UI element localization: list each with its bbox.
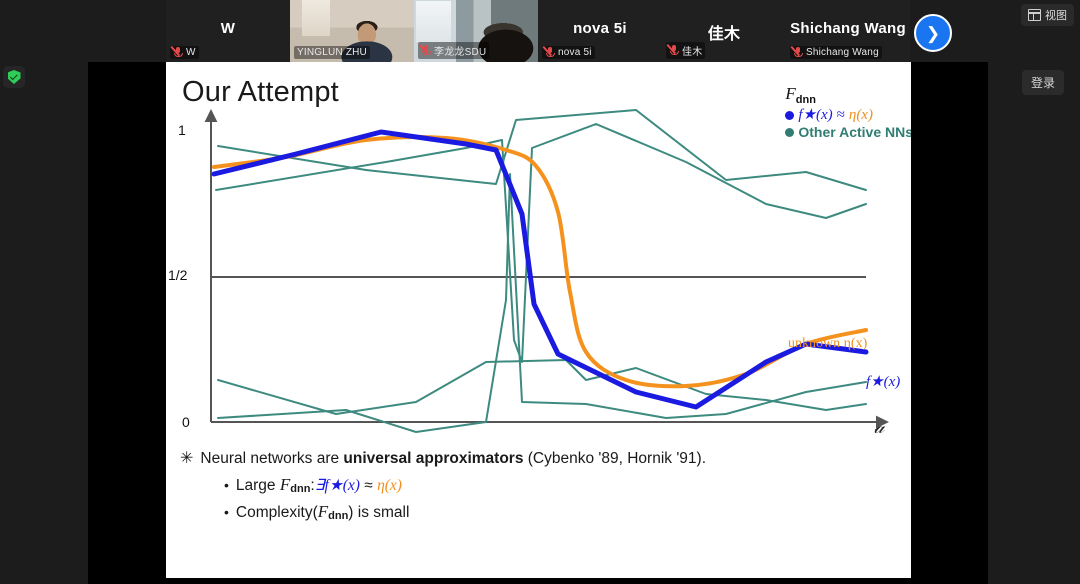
bullet-2-orange: η(x) [377,477,402,494]
login-button[interactable]: 登录 [1022,70,1064,95]
bullet-3-F: F [318,502,328,521]
bullet-3-part-b: ) is small [348,504,409,521]
participant-badge-0: W [170,46,199,59]
shared-screen-area: Our Attempt Fdnn f★(x) ≈ η(x) Other Acti… [88,62,988,584]
participant-badge-label-3: nova 5i [558,47,592,58]
mic-muted-icon [669,45,678,56]
login-label: 登录 [1031,76,1055,90]
star-icon: ✳ [180,448,193,468]
bullet-1-text: Neural networks are universal approximat… [200,450,706,468]
mic-muted-icon [793,47,802,58]
mic-muted-icon [421,45,430,56]
view-mode-label: 视图 [1045,7,1067,23]
view-mode-button[interactable]: 视图 [1021,4,1074,26]
participant-name-5: Shichang Wang [786,20,910,37]
series-line-3 [216,124,866,362]
participant-badge-1: YINGLUN ZHU [294,46,370,59]
bullet-1-part-a: Neural networks are [200,450,343,467]
zoom-meeting-window: WWYINGLUN ZHU李龙龙SDUnova 5inova 5i佳木佳木Shi… [0,0,1080,584]
participant-badge-4: 佳木 [666,42,705,59]
participant-tile-5[interactable]: Shichang WangShichang Wang [786,0,910,62]
participant-badge-label-2: 李龙龙SDU [434,43,486,58]
series-line-4 [218,360,866,414]
bullet-2-approx: ≈ [364,477,373,494]
bullet-1-part-b: (Cybenko '89, Hornik '91). [523,450,706,467]
participant-tile-2[interactable]: 李龙龙SDU [414,0,538,62]
bullet-line-1: ✳ Neural networks are universal approxim… [180,448,900,468]
bullet-dot-icon-1: • [224,478,229,492]
bullet-2-blue: ∃f★(x) [315,477,360,494]
grid-icon [1028,9,1041,21]
participant-name-0: W [166,20,290,37]
participant-name-4: 佳木 [662,20,786,44]
bullet-3-text: Complexity(Fdnn) is small [236,502,410,522]
bullet-3-sub: dnn [328,510,348,522]
participant-badge-label-0: W [186,47,196,58]
participant-badge-2: 李龙龙SDU [418,42,489,59]
y-tick-half: 1/2 [168,267,187,283]
participant-name-3: nova 5i [538,20,662,37]
filmstrip-next-button[interactable]: ❯ [914,14,952,52]
annotation-unknown-eta: unknown η(x) [788,336,867,352]
participant-badge-label-1: YINGLUN ZHU [297,47,367,58]
participant-badge-5: Shichang Wang [790,46,882,59]
bullet-2-sub: dnn [290,483,310,495]
presentation-slide: Our Attempt Fdnn f★(x) ≈ η(x) Other Acti… [166,62,911,578]
encryption-status-badge[interactable] [3,66,25,88]
participant-tile-0[interactable]: WW [166,0,290,62]
participant-badge-3: nova 5i [542,46,595,59]
series-line-5 [218,174,866,432]
bullet-2-text: Large Fdnn:∃f★(x) ≈ η(x) [236,475,402,495]
participant-tile-3[interactable]: nova 5inova 5i [538,0,662,62]
participant-badge-label-5: Shichang Wang [806,47,879,58]
participant-tile-4[interactable]: 佳木佳木 [662,0,786,62]
annotation-f-star: f★(x) [866,372,900,391]
bullet-line-2: • Large Fdnn:∃f★(x) ≈ η(x) [224,475,900,495]
participant-tile-1[interactable]: YINGLUN ZHU [290,0,414,62]
mic-muted-icon [173,47,182,58]
bullet-dot-icon-2: • [224,505,229,519]
chevron-right-icon: ❯ [926,25,940,42]
y-tick-0: 0 [182,414,190,430]
bullet-1-bold: universal approximators [343,450,523,467]
slide-bullets: ✳ Neural networks are universal approxim… [180,448,900,522]
mic-muted-icon [545,47,554,58]
y-tick-1: 1 [178,122,186,138]
bullet-2-F: F [280,475,290,494]
bullet-2-part-a: Large [236,477,280,494]
axis-label-x: 𝒶 [874,417,884,439]
bullet-line-3: • Complexity(Fdnn) is small [224,502,900,522]
participant-badge-label-4: 佳木 [682,43,702,58]
shield-check-icon [8,70,21,84]
bullet-3-part-a: Complexity( [236,504,318,521]
